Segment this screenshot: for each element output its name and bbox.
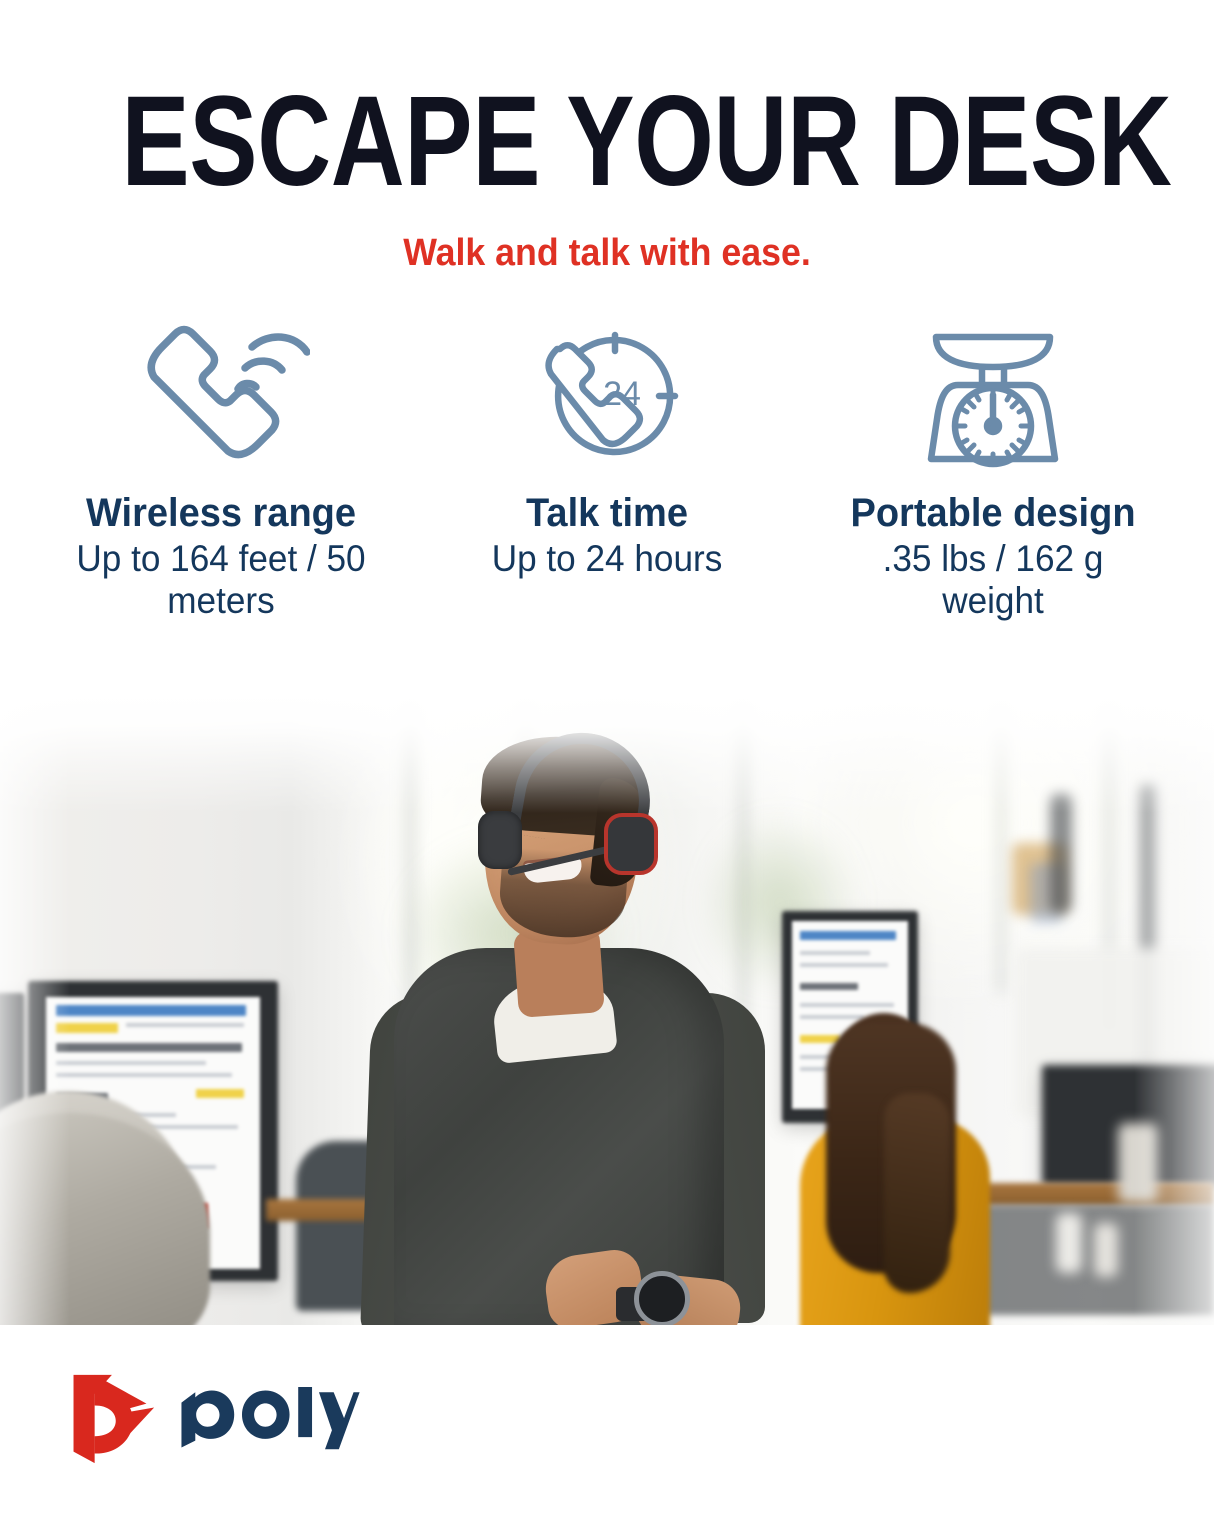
feature-talk-time: 24 Talk time Up to 24 hours bbox=[414, 323, 800, 623]
bottle bbox=[1056, 1213, 1082, 1273]
wristwatch bbox=[634, 1271, 690, 1325]
poly-logo[interactable]: poly bbox=[62, 1371, 360, 1467]
feature-desc: .35 lbs / 162 g weight bbox=[810, 538, 1177, 623]
photo-top-fade bbox=[0, 693, 1214, 813]
feature-list: Wireless range Up to 164 feet / 50 meter… bbox=[0, 323, 1214, 623]
feature-desc: Up to 164 feet / 50 meters bbox=[38, 538, 405, 623]
page-title: ESCAPE YOUR DESK bbox=[121, 78, 1092, 206]
feature-wireless-range: Wireless range Up to 164 feet / 50 meter… bbox=[28, 323, 414, 623]
handset-clock-24-icon: 24 bbox=[414, 323, 800, 473]
page-subtitle: Walk and talk with ease. bbox=[36, 232, 1177, 275]
poly-propeller-mark bbox=[62, 1371, 158, 1467]
headset-earcup bbox=[604, 813, 658, 875]
feature-desc: Up to 24 hours bbox=[424, 538, 791, 581]
hero-photo bbox=[0, 693, 1214, 1325]
poly-wordmark bbox=[178, 1387, 360, 1451]
headset-earcup bbox=[478, 811, 522, 869]
kitchen-scale-icon bbox=[800, 323, 1186, 473]
footer: poly bbox=[0, 1325, 1214, 1517]
feature-title: Portable design bbox=[810, 491, 1177, 536]
phone-handset-signal-icon bbox=[28, 323, 414, 473]
marketing-poster: ESCAPE YOUR DESK Walk and talk with ease… bbox=[0, 0, 1214, 1517]
feature-title: Talk time bbox=[424, 491, 791, 536]
feature-title: Wireless range bbox=[38, 491, 405, 536]
office-scene bbox=[0, 693, 1214, 1325]
headline-block: ESCAPE YOUR DESK Walk and talk with ease… bbox=[0, 0, 1214, 275]
bottle bbox=[1094, 1223, 1118, 1277]
talk-time-icon-label: 24 bbox=[603, 375, 641, 413]
feature-portable-design: Portable design .35 lbs / 162 g weight bbox=[800, 323, 1186, 623]
colleague-woman-hair bbox=[884, 1093, 950, 1293]
